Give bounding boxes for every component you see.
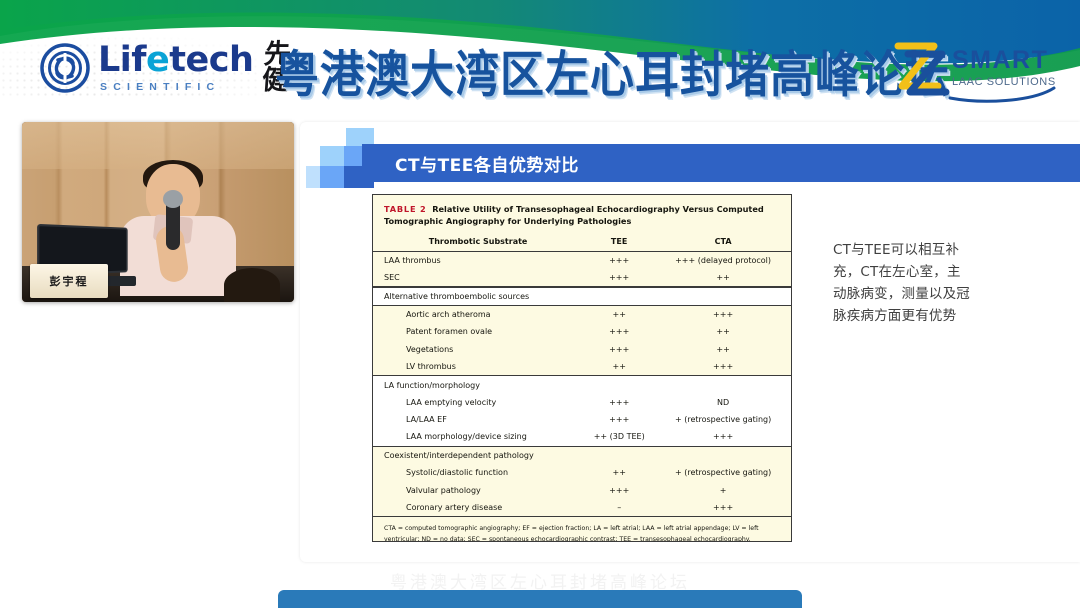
row-cta-value: ++ bbox=[666, 273, 780, 282]
row-tee-value: +++ bbox=[572, 256, 666, 265]
row-tee-value: – bbox=[572, 503, 666, 512]
row-tee-value: +++ bbox=[572, 327, 666, 336]
bottom-progress-bar[interactable] bbox=[278, 590, 802, 608]
row-cta-value: +++ bbox=[666, 362, 780, 371]
column-header-cta: CTA bbox=[666, 237, 780, 246]
lifetech-wordmark: Lifetech bbox=[98, 43, 253, 78]
lifetech-swirl-icon bbox=[40, 43, 90, 93]
speaker-figure-icon bbox=[118, 164, 238, 284]
column-header-tee: TEE bbox=[572, 237, 666, 246]
smart-logo: SMART LAAC SOLUTIONS bbox=[882, 38, 1060, 102]
row-label: Alternative thromboembolic sources bbox=[384, 292, 572, 301]
row-label: LAA thrombus bbox=[384, 256, 572, 265]
speaker-name-plate: 彭宇程 bbox=[30, 264, 108, 298]
row-cta-value: + bbox=[666, 486, 780, 495]
slide-title-bar: CT与TEE各自优势对比 bbox=[362, 144, 1080, 182]
row-tee-value: ++ bbox=[572, 468, 666, 477]
row-label: LA function/morphology bbox=[384, 381, 572, 390]
mosaic-square bbox=[320, 128, 346, 146]
row-cta-value: + (retrospective gating) bbox=[666, 415, 780, 424]
table-row: Aortic arch atheroma+++++ bbox=[373, 306, 791, 323]
table-row: LV thrombus+++++ bbox=[373, 358, 791, 375]
table-row: Alternative thromboembolic sources bbox=[373, 288, 791, 305]
row-cta-value: ND bbox=[666, 398, 780, 407]
row-cta-value: +++ bbox=[666, 432, 780, 441]
slide-title: CT与TEE各自优势对比 bbox=[395, 151, 579, 176]
row-cta-value: + (retrospective gating) bbox=[666, 468, 780, 477]
table-footnote: CTA = computed tomographic angiography; … bbox=[373, 516, 791, 542]
slide-annotation-note: CT与TEE可以相互补充，CT在左心室，主动脉病变，测量以及冠脉疾病方面更有优势 bbox=[833, 240, 973, 327]
smart-wordmark: SMART bbox=[952, 46, 1056, 75]
smart-underline-swoosh bbox=[882, 84, 1060, 104]
table-caption-text: Relative Utility of Transesophageal Echo… bbox=[384, 204, 764, 226]
row-tee-value: +++ bbox=[572, 345, 666, 354]
row-tee-value: ++ (3D TEE) bbox=[572, 432, 666, 441]
row-label: LAA morphology/device sizing bbox=[384, 432, 572, 441]
table-row: SEC+++++ bbox=[373, 269, 791, 286]
row-label: LA/LAA EF bbox=[384, 415, 572, 424]
conference-title: 粤港澳大湾区左心耳封堵高峰论坛 bbox=[275, 34, 885, 103]
row-tee-value: ++ bbox=[572, 310, 666, 319]
mosaic-square bbox=[320, 166, 346, 188]
table-row: Systolic/diastolic function+++ (retrospe… bbox=[373, 464, 791, 481]
lifetech-logo: Lifetech SCIENTIFIC 先 健 bbox=[40, 42, 290, 93]
table-row: LAA thrombus++++++ (delayed protocol) bbox=[373, 252, 791, 269]
row-tee-value: +++ bbox=[572, 415, 666, 424]
row-label: Patent foramen ovale bbox=[384, 327, 572, 336]
row-label: LAA emptying velocity bbox=[384, 398, 572, 407]
speaker-name: 彭宇程 bbox=[50, 273, 89, 289]
row-cta-value: ++ bbox=[666, 345, 780, 354]
table-row: Vegetations+++++ bbox=[373, 341, 791, 358]
table-row: Coronary artery disease–+++ bbox=[373, 499, 791, 516]
table-row: LA/LAA EF++++ (retrospective gating) bbox=[373, 411, 791, 428]
slide-screenshot: Lifetech SCIENTIFIC 先 健 粤港澳大湾区左心耳封堵高峰论坛 … bbox=[0, 0, 1080, 608]
lifetech-tagline: SCIENTIFIC bbox=[100, 82, 253, 93]
table-row: LAA morphology/device sizing++ (3D TEE)+… bbox=[373, 428, 791, 445]
table-row: Valvular pathology++++ bbox=[373, 481, 791, 498]
row-label: Vegetations bbox=[384, 345, 572, 354]
table-row: LAA emptying velocity+++ND bbox=[373, 394, 791, 411]
row-cta-value: +++ bbox=[666, 503, 780, 512]
table-row: LA function/morphology bbox=[373, 376, 791, 393]
mosaic-square bbox=[320, 146, 346, 168]
table-header-row: Thrombotic Substrate TEE CTA bbox=[373, 235, 791, 252]
row-label: SEC bbox=[384, 273, 572, 282]
row-label: LV thrombus bbox=[384, 362, 572, 371]
row-cta-value: ++ bbox=[666, 327, 780, 336]
reference-table: TABLE 2 Relative Utility of Transesophag… bbox=[372, 194, 792, 542]
row-tee-value: +++ bbox=[572, 273, 666, 282]
speaker-video-thumbnail[interactable]: 彭宇程 bbox=[22, 122, 294, 302]
table-row: Patent foramen ovale+++++ bbox=[373, 323, 791, 340]
table-body: LAA thrombus++++++ (delayed protocol)SEC… bbox=[373, 252, 791, 516]
slide-panel: CT与TEE各自优势对比 TABLE 2 Relative Utility of… bbox=[300, 122, 1080, 562]
page-header: Lifetech SCIENTIFIC 先 健 粤港澳大湾区左心耳封堵高峰论坛 … bbox=[0, 0, 1080, 118]
row-tee-value: ++ bbox=[572, 362, 666, 371]
table-caption: TABLE 2 Relative Utility of Transesophag… bbox=[373, 195, 791, 235]
row-tee-value: +++ bbox=[572, 398, 666, 407]
row-label: Systolic/diastolic function bbox=[384, 468, 572, 477]
row-label: Valvular pathology bbox=[384, 486, 572, 495]
audience-head-silhouette bbox=[224, 268, 280, 302]
table-row: Coexistent/interdependent pathology bbox=[373, 447, 791, 464]
row-tee-value: +++ bbox=[572, 486, 666, 495]
row-cta-value: +++ (delayed protocol) bbox=[666, 256, 780, 265]
row-cta-value: +++ bbox=[666, 310, 780, 319]
column-header-substrate: Thrombotic Substrate bbox=[384, 237, 572, 246]
table-number: TABLE 2 bbox=[384, 204, 426, 214]
row-label: Coexistent/interdependent pathology bbox=[384, 451, 572, 460]
row-label: Coronary artery disease bbox=[384, 503, 572, 512]
row-label: Aortic arch atheroma bbox=[384, 310, 572, 319]
